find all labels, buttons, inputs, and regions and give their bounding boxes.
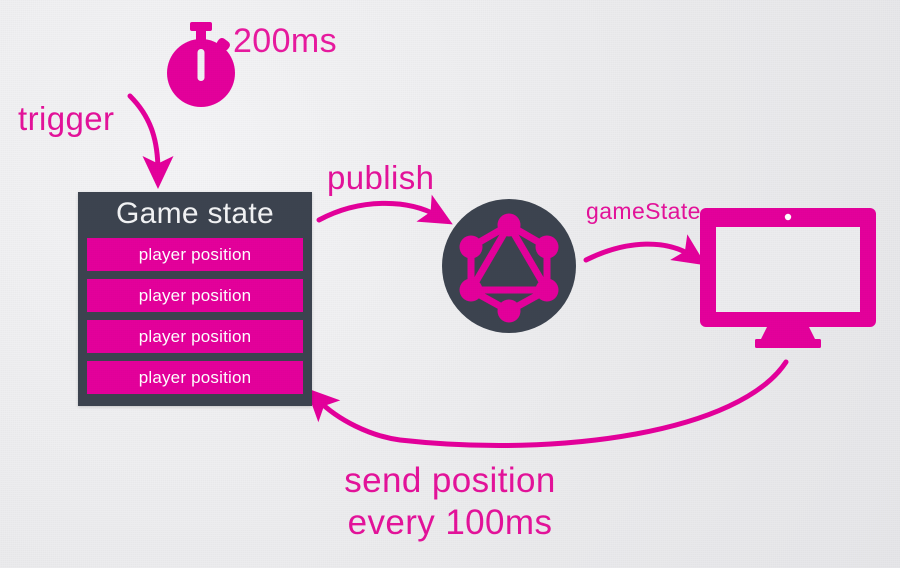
graphql-logo-icon[interactable] [442, 199, 576, 333]
list-item[interactable]: player position [87, 279, 303, 312]
publish-edge-label: publish [327, 160, 434, 196]
timer-label: 200ms [233, 23, 337, 60]
send-position-line-1: send position [344, 461, 555, 500]
trigger-edge-label: trigger [18, 101, 114, 137]
publish-arrow [319, 203, 438, 220]
send-position-edge-label: send position every 100ms [0, 462, 900, 542]
list-item[interactable]: player position [87, 238, 303, 271]
monitor-icon[interactable] [697, 205, 879, 350]
stopwatch-icon [160, 22, 242, 108]
diagram-canvas: 200ms trigger Game state player position… [0, 0, 900, 568]
gamestate-edge-label: gameState [586, 199, 701, 224]
list-item[interactable]: player position [87, 361, 303, 394]
send-position-line-2: every 100ms [0, 504, 900, 542]
list-item[interactable]: player position [87, 320, 303, 353]
game-state-title: Game state [78, 192, 312, 232]
trigger-arrow [130, 96, 158, 172]
gamestate-arrow [586, 244, 692, 260]
player-position-list: player position player position player p… [78, 232, 312, 394]
send-position-arrow [318, 362, 786, 446]
game-state-box[interactable]: Game state player position player positi… [78, 192, 312, 406]
